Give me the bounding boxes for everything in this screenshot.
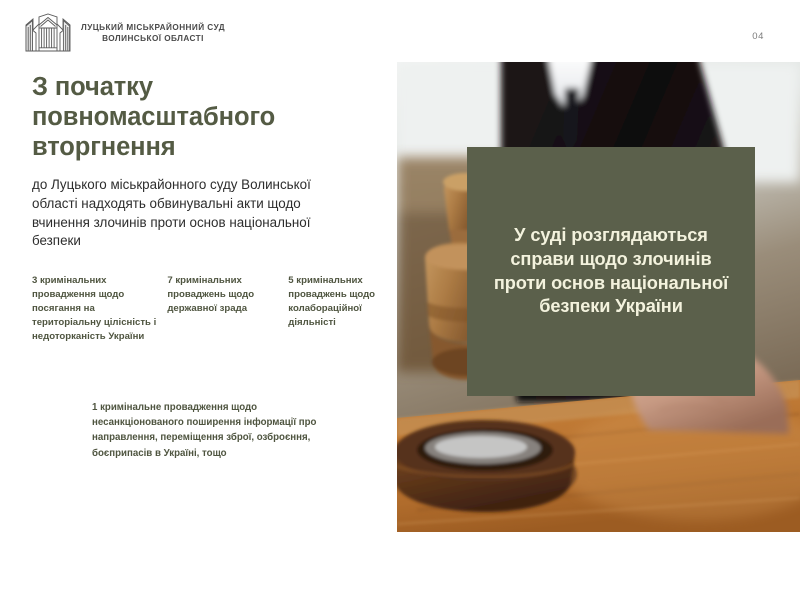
callout-box: У суді розглядаються справи щодо злочині… [467,147,755,396]
left-content-column: З початку повномасштабного вторгнення до… [32,73,380,251]
org-line-1: ЛУЦЬКИЙ МІСЬКРАЙОННИЙ СУД [81,22,225,33]
stat-item-territorial-integrity: 3 кримінальних провадження щодо посяганн… [32,274,167,344]
callout-text: У суді розглядаються справи щодо злочині… [485,224,737,319]
lead-paragraph: до Луцького міськрайонного суду Волинськ… [32,176,342,251]
slide: ЛУЦЬКИЙ МІСЬКРАЙОННИЙ СУД ВОЛИНСЬКОЇ ОБЛ… [0,0,800,600]
organization-name: ЛУЦЬКИЙ МІСЬКРАЙОННИЙ СУД ВОЛИНСЬКОЇ ОБЛ… [81,22,225,44]
page-number: 04 [752,31,764,42]
slide-header: ЛУЦЬКИЙ МІСЬКРАЙОННИЙ СУД ВОЛИНСЬКОЇ ОБЛ… [0,0,800,62]
page-title: З початку повномасштабного вторгнення [32,73,332,162]
courthouse-building-icon [24,13,72,53]
stat-item-collaboration: 5 кримінальних проваджень щодо колаборац… [288,274,407,344]
stat-item-unauthorized-information: 1 кримінальне провадження щодо несанкціо… [92,400,322,461]
org-line-2: ВОЛИНСЬКОЇ ОБЛАСТІ [102,33,204,44]
statistics-row: 3 кримінальних провадження щодо посяганн… [32,274,407,344]
stat-item-state-treason: 7 кримінальних проваджень щодо державної… [167,274,288,344]
brand-lockup: ЛУЦЬКИЙ МІСЬКРАЙОННИЙ СУД ВОЛИНСЬКОЇ ОБЛ… [24,13,225,53]
